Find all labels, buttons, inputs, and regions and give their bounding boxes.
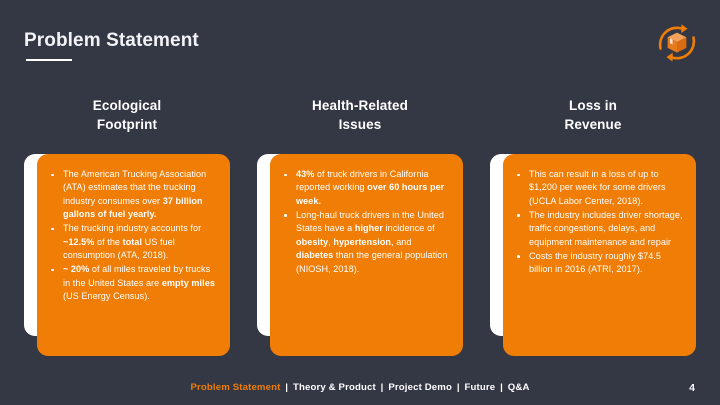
- footer-nav-item-future[interactable]: Future: [465, 382, 496, 393]
- list-item: Costs the industry roughly $74.5 billion…: [512, 250, 684, 277]
- list-item: 43% of truck drivers in California repor…: [279, 168, 451, 208]
- footer-separator: |: [283, 382, 290, 393]
- column-heading: Loss in Revenue: [565, 96, 622, 136]
- footer-nav-item-project-demo[interactable]: Project Demo: [388, 382, 452, 393]
- bullet-list: 43% of truck drivers in California repor…: [279, 168, 451, 276]
- footer-separator: |: [379, 382, 386, 393]
- columns-container: Ecological Footprint The American Trucki…: [0, 96, 720, 366]
- card-wrapper: 43% of truck drivers in California repor…: [257, 154, 463, 356]
- card-loss-in-revenue[interactable]: This can result in a loss of up to $1,20…: [503, 154, 696, 356]
- bullet-list: This can result in a loss of up to $1,20…: [512, 168, 684, 277]
- footer-nav-item-problem-statement[interactable]: Problem Statement: [190, 382, 280, 393]
- list-item: This can result in a loss of up to $1,20…: [512, 168, 684, 208]
- list-item: The trucking industry accounts for ~12.5…: [46, 222, 218, 262]
- list-item: ~ 20% of all miles traveled by trucks in…: [46, 263, 218, 303]
- footer-nav-item-qa[interactable]: Q&A: [508, 382, 530, 393]
- page-title: Problem Statement: [24, 30, 199, 52]
- list-item: The American Trucking Association (ATA) …: [46, 168, 218, 222]
- column-heading: Health-Related Issues: [312, 96, 408, 136]
- slide-canvas: Problem Statement Ecological Footprint: [0, 0, 720, 405]
- footer-nav-item-theory-and-product[interactable]: Theory & Product: [293, 382, 376, 393]
- column-loss-in-revenue: Loss in Revenue This can result in a los…: [490, 96, 696, 366]
- list-item: Long-haul truck drivers in the United St…: [279, 209, 451, 276]
- column-health-related-issues: Health-Related Issues 43% of truck drive…: [257, 96, 463, 366]
- footer-separator: |: [498, 382, 505, 393]
- list-item: The industry includes driver shortage, t…: [512, 209, 684, 249]
- page-number: 4: [689, 382, 695, 394]
- card-ecological-footprint[interactable]: The American Trucking Association (ATA) …: [37, 154, 230, 356]
- footer-navigation: Problem Statement | Theory & Product | P…: [0, 382, 720, 393]
- column-heading: Ecological Footprint: [93, 96, 162, 136]
- column-ecological-footprint: Ecological Footprint The American Trucki…: [24, 96, 230, 366]
- card-health-related-issues[interactable]: 43% of truck drivers in California repor…: [270, 154, 463, 356]
- bullet-list: The American Trucking Association (ATA) …: [46, 168, 218, 304]
- card-wrapper: The American Trucking Association (ATA) …: [24, 154, 230, 356]
- package-recycle-logo-icon: [652, 18, 702, 68]
- title-underline-rule: [26, 59, 72, 61]
- footer-separator: |: [455, 382, 462, 393]
- card-wrapper: This can result in a loss of up to $1,20…: [490, 154, 696, 356]
